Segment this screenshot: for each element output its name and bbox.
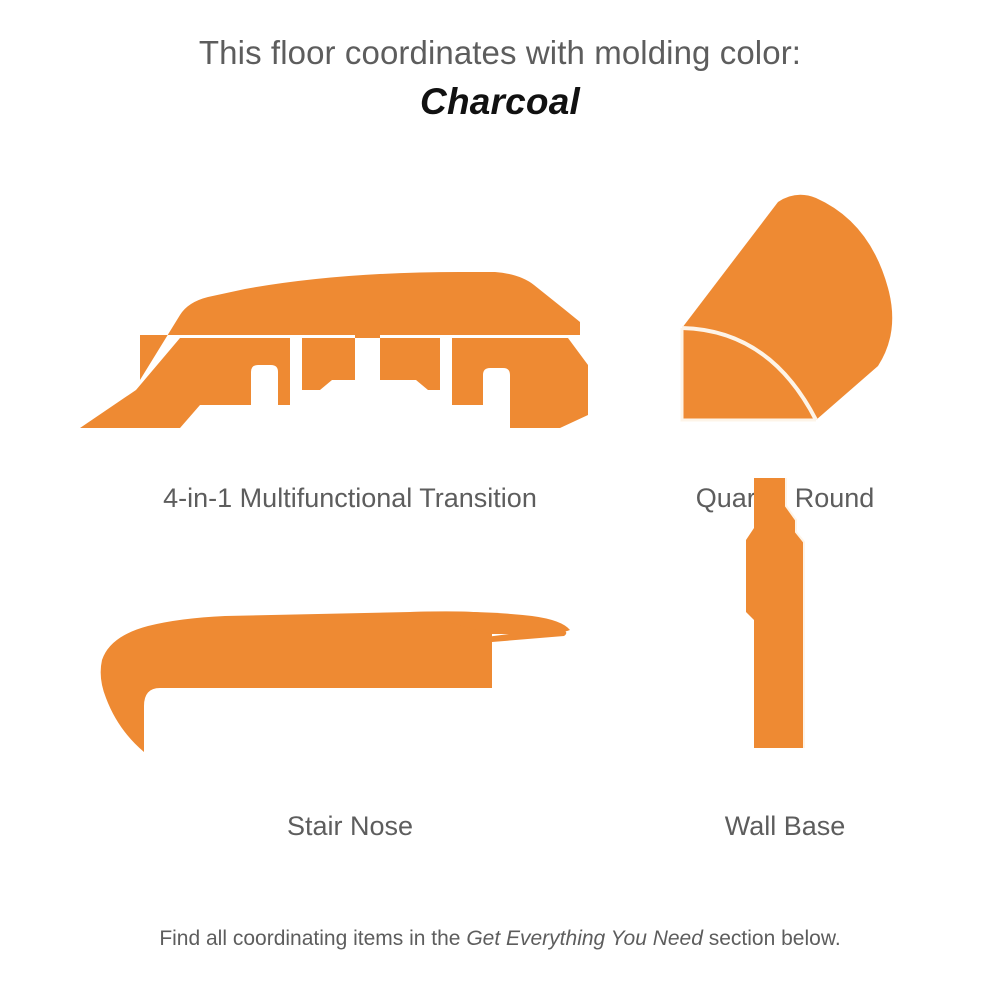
molding-label-transition: 4-in-1 Multifunctional Transition (40, 482, 660, 514)
header: This floor coordinates with molding colo… (0, 34, 1000, 123)
wall-base-profile-art (620, 470, 950, 780)
header-subtitle: This floor coordinates with molding colo… (0, 34, 1000, 73)
molding-label-stair-nose: Stair Nose (40, 810, 660, 842)
stair-nose-profile-icon (40, 590, 660, 780)
footer-suffix: section below. (703, 927, 841, 950)
molding-grid: 4-in-1 Multifunctional Transition Quarte… (0, 170, 1000, 870)
footer-prefix: Find all coordinating items in the (159, 927, 466, 950)
stair-nose-profile-art (40, 590, 660, 780)
molding-coordination-card: This floor coordinates with molding colo… (0, 0, 1000, 1000)
quarter-round-profile-icon (620, 180, 950, 460)
transition-profile-icon (40, 210, 660, 460)
molding-item-transition: 4-in-1 Multifunctional Transition (40, 210, 660, 514)
footer-emphasis: Get Everything You Need (466, 927, 703, 950)
quarter-round-profile-art (620, 180, 950, 460)
molding-item-wall-base: Wall Base (620, 470, 950, 842)
molding-item-quarter-round: Quarter Round (620, 180, 950, 514)
molding-label-wall-base: Wall Base (620, 810, 950, 842)
molding-item-stair-nose: Stair Nose (40, 590, 660, 842)
footer-note: Find all coordinating items in the Get E… (0, 925, 1000, 952)
molding-color-name: Charcoal (0, 81, 1000, 124)
transition-profile-art (40, 210, 660, 460)
wall-base-profile-icon (620, 470, 950, 780)
